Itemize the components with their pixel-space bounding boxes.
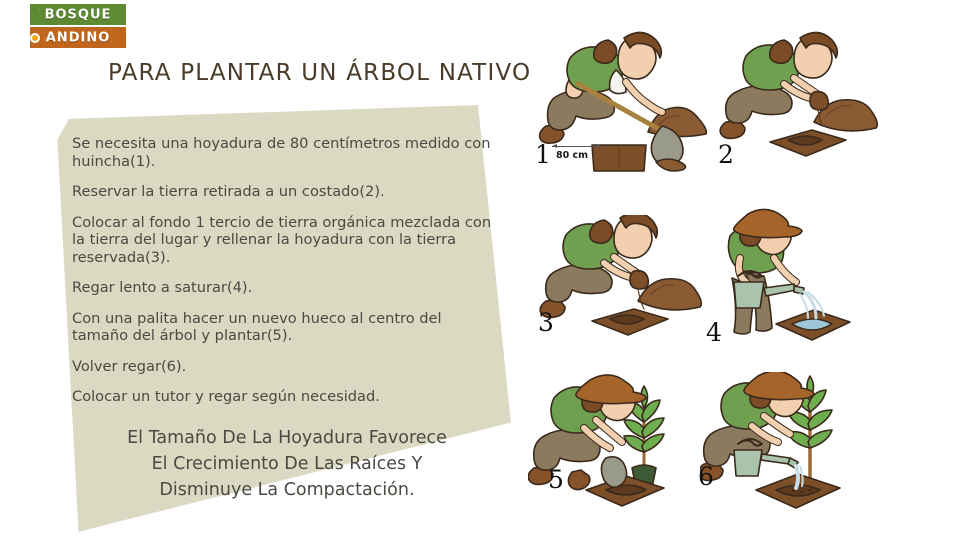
logo-text-andino: ANDINO — [30, 30, 126, 45]
measure-label-80cm: 80 cm — [556, 150, 588, 161]
orange-circle-o-icon — [30, 33, 40, 43]
figure-number-1: 1 — [535, 140, 551, 169]
instruction-step-4: Regar lento a saturar(4). — [72, 279, 492, 297]
instruction-step-2: Reservar la tierra retirada a un costado… — [72, 183, 492, 201]
illustration-step-2 — [718, 30, 898, 175]
panel-conclusion: El Tamaño De La Hoyadura Favorece El Cre… — [72, 425, 502, 503]
logo-text-bosque: BOSQUE — [30, 7, 126, 22]
instruction-step-7: Colocar un tutor y regar según necesidad… — [72, 388, 492, 406]
instruction-step-5: Con una palita hacer un nuevo hueco al c… — [72, 310, 492, 345]
figure-number-2: 2 — [718, 140, 734, 169]
logo-band-orange: ANDINO — [30, 27, 126, 48]
instruction-step-6: Volver regar(6). — [72, 358, 492, 376]
instruction-step-3: Colocar al fondo 1 tercio de tierra orgá… — [72, 214, 492, 267]
instructions-list: Se necesita una hoyadura de 80 centímetr… — [72, 135, 492, 419]
conclusion-line-2: El Crecimiento De Las Raíces Y — [72, 451, 502, 477]
figure-number-6: 6 — [698, 462, 714, 491]
conclusion-line-3: Disminuye La Compactación. — [72, 477, 502, 503]
conclusion-line-1: El Tamaño De La Hoyadura Favorece — [72, 425, 502, 451]
illustration-step-3 — [538, 215, 718, 350]
logo-band-green: BOSQUE — [30, 4, 126, 25]
figure-number-4: 4 — [706, 318, 722, 347]
measure-arrow-80cm — [552, 146, 602, 147]
instruction-step-1: Se necesita una hoyadura de 80 centímetr… — [72, 135, 492, 170]
slide-canvas: BOSQUE ANDINO PARA PLANTAR UN ÁRBOL NATI… — [0, 0, 960, 537]
figure-number-5: 5 — [548, 465, 564, 494]
illustration-step-6 — [700, 372, 895, 512]
logo-bosque-andino: BOSQUE ANDINO — [30, 4, 126, 48]
figure-number-3: 3 — [538, 308, 554, 337]
illustration-step-4 — [718, 208, 898, 353]
